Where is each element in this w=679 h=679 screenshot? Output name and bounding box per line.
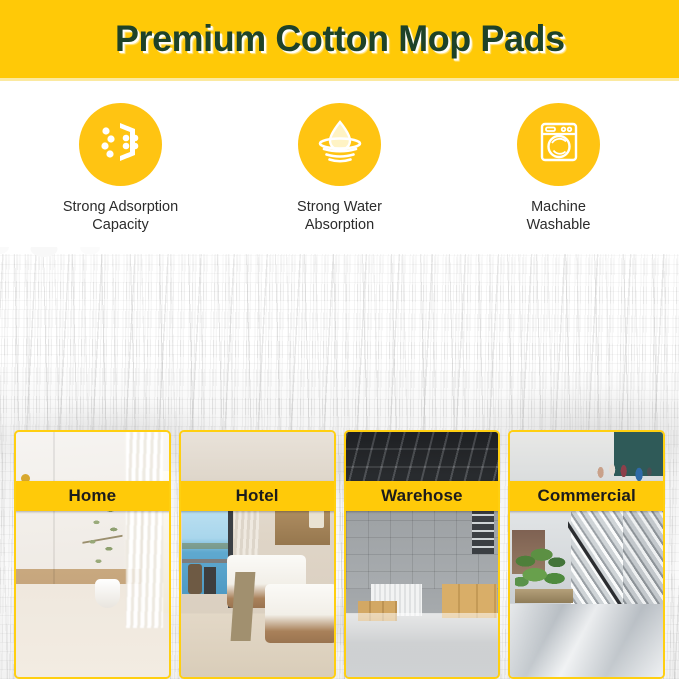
page-title: Premium Cotton Mop Pads	[115, 18, 565, 60]
feature-badge-water	[298, 103, 381, 186]
hotel-bed-right	[265, 584, 336, 643]
use-case-panel-row: Home Hotel	[0, 430, 679, 679]
header-banner: Premium Cotton Mop Pads	[0, 0, 679, 78]
feature-label-line1: Machine	[531, 199, 586, 215]
home-scene-photo	[16, 432, 169, 677]
hotel-balcony-chair	[188, 564, 202, 593]
hotel-ceiling	[181, 432, 334, 481]
use-case-label-home: Home	[14, 481, 171, 511]
feature-label-washable: Machine Washable	[527, 198, 591, 234]
product-infographic: Premium Cotton Mop Pads	[0, 0, 679, 679]
hotel-balcony-rail	[182, 559, 228, 563]
feature-label-line1: Strong Adsorption	[63, 199, 178, 215]
feature-item-adsorption: Strong Adsorption Capacity	[36, 86, 206, 234]
home-curtain	[126, 432, 163, 628]
feature-label-line2: Absorption	[305, 217, 374, 233]
washing-machine-icon	[533, 116, 585, 173]
feature-label-line1: Strong Water	[297, 199, 382, 215]
warehouse-scene-photo	[346, 432, 499, 677]
home-planter-pot	[95, 579, 119, 608]
warehouse-roof-trusses	[346, 432, 499, 486]
hotel-scene-photo	[181, 432, 334, 677]
water-droplet-icon	[313, 115, 367, 174]
use-case-label-warehouse: Warehose	[344, 481, 501, 511]
use-case-label-hotel: Hotel	[179, 481, 336, 511]
commercial-marble-floor	[510, 604, 663, 678]
feature-label-adsorption: Strong Adsorption Capacity	[63, 198, 178, 234]
hotel-bed-runner	[230, 572, 255, 641]
feature-item-water: Strong Water Absorption	[255, 86, 425, 234]
adsorption-particles-icon	[95, 116, 147, 173]
warehouse-floor	[346, 613, 499, 677]
feature-badge-adsorption	[79, 103, 162, 186]
use-case-panel-warehouse[interactable]: Warehose	[344, 430, 501, 679]
use-case-panel-hotel[interactable]: Hotel	[179, 430, 336, 679]
feature-badge-washable	[517, 103, 600, 186]
use-case-label-commercial: Commercial	[508, 481, 665, 511]
commercial-scene-photo	[510, 432, 663, 677]
fiber-top-edge	[0, 238, 679, 254]
hotel-balcony-table	[204, 567, 216, 594]
commercial-planter-box	[515, 589, 573, 604]
feature-label-line2: Capacity	[92, 217, 148, 233]
banner-underline	[0, 78, 679, 81]
feature-label-water: Strong Water Absorption	[297, 198, 382, 234]
feature-label-line2: Washable	[527, 217, 591, 233]
feature-item-washable: Machine Washable	[474, 86, 644, 234]
feature-row: Strong Adsorption Capacity Strong Water	[0, 86, 679, 236]
use-case-panel-home[interactable]: Home	[14, 430, 171, 679]
use-case-panel-commercial[interactable]: Commercial	[508, 430, 665, 679]
